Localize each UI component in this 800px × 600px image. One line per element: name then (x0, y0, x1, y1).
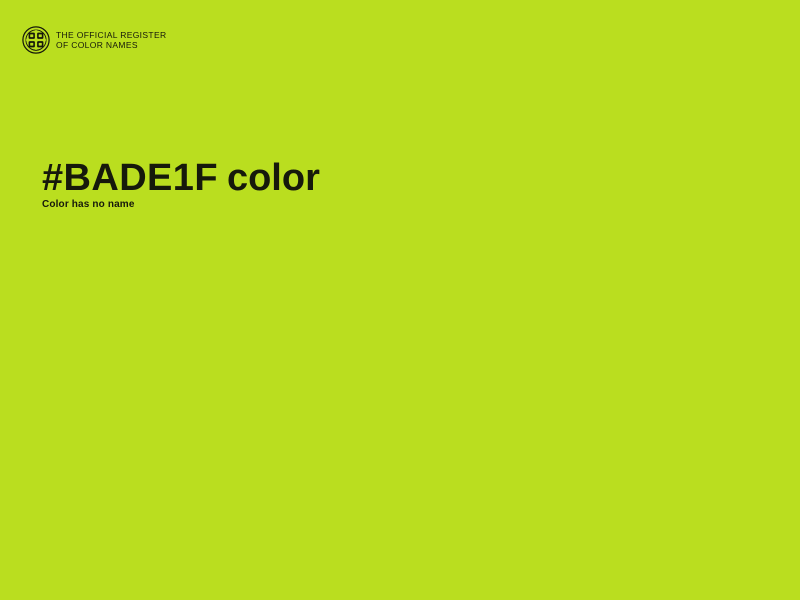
color-page: THE OFFICIAL REGISTER OF COLOR NAMES #BA… (0, 0, 800, 600)
page-title: #BADE1Fcolor (42, 156, 320, 200)
color-swatch-field (0, 230, 800, 600)
brand-line-1: THE OFFICIAL REGISTER (56, 30, 166, 41)
brand-lockup[interactable]: THE OFFICIAL REGISTER OF COLOR NAMES (22, 26, 166, 54)
register-seal-icon (22, 26, 50, 54)
brand-wordmark: THE OFFICIAL REGISTER OF COLOR NAMES (56, 30, 166, 51)
brand-line-2: OF COLOR NAMES (56, 40, 166, 51)
hex-code-suffix: color (227, 157, 320, 199)
color-name-status: Color has no name (42, 198, 135, 211)
hex-code-label: #BADE1F (42, 157, 218, 199)
